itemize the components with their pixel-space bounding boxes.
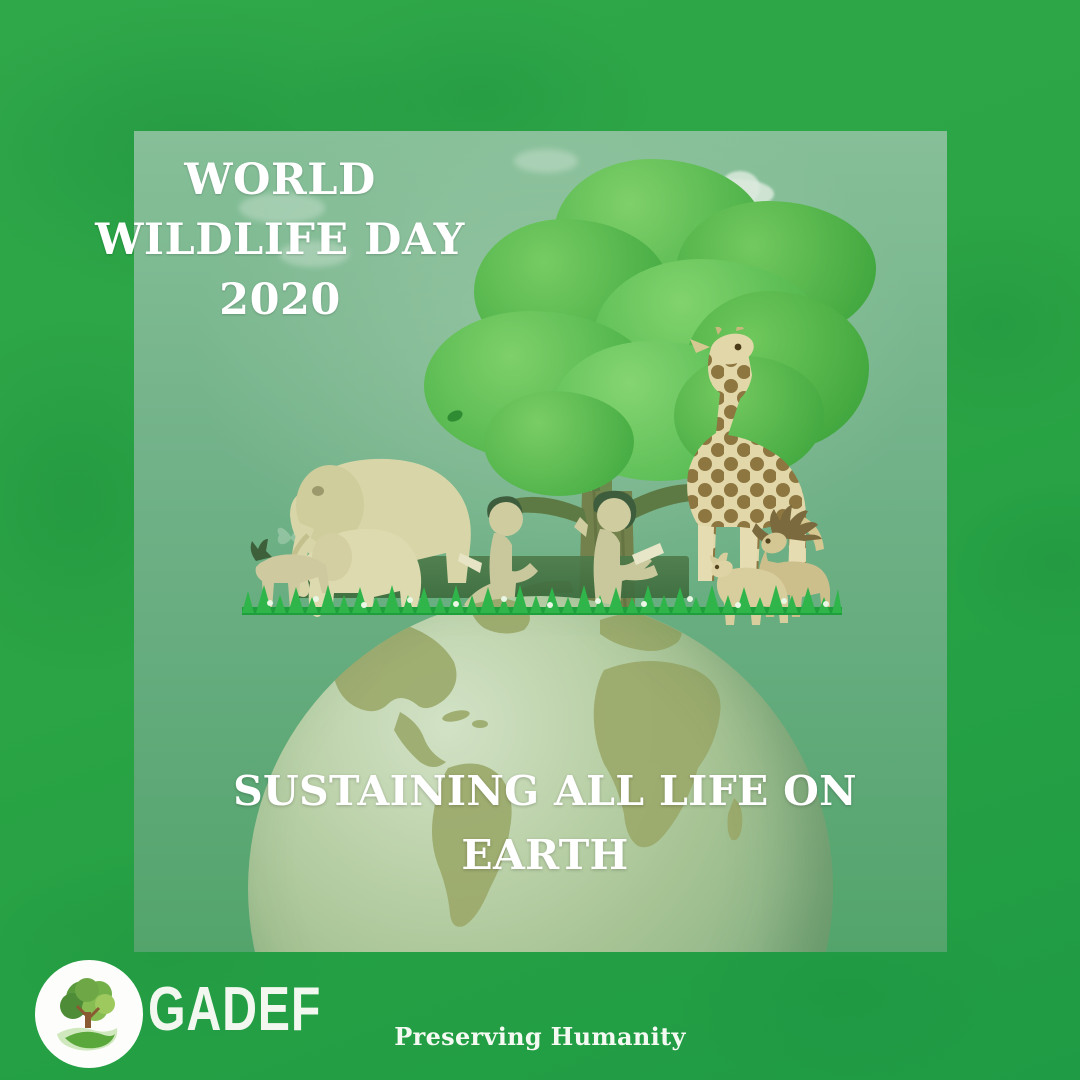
poster-canvas: WORLD WILDLIFE DAY 2020 SUSTAINING ALL L… xyxy=(0,0,1080,1080)
footer-bar: GADEF xyxy=(0,952,1080,1080)
leaf-icon xyxy=(446,409,464,423)
title-line-1: WORLD xyxy=(0,150,560,210)
brand-tagline: Preserving Humanity xyxy=(0,1022,1080,1051)
gadef-logo-badge[interactable] xyxy=(35,960,143,1068)
page-title: WORLD WILDLIFE DAY 2020 xyxy=(0,150,560,331)
grass-strip xyxy=(242,583,842,615)
title-line-2: WILDLIFE DAY xyxy=(0,210,560,270)
page-subtitle: SUSTAINING ALL LIFE ON EARTH xyxy=(150,760,940,887)
tree-canopy-blob xyxy=(484,391,634,496)
title-line-3: 2020 xyxy=(0,270,560,330)
